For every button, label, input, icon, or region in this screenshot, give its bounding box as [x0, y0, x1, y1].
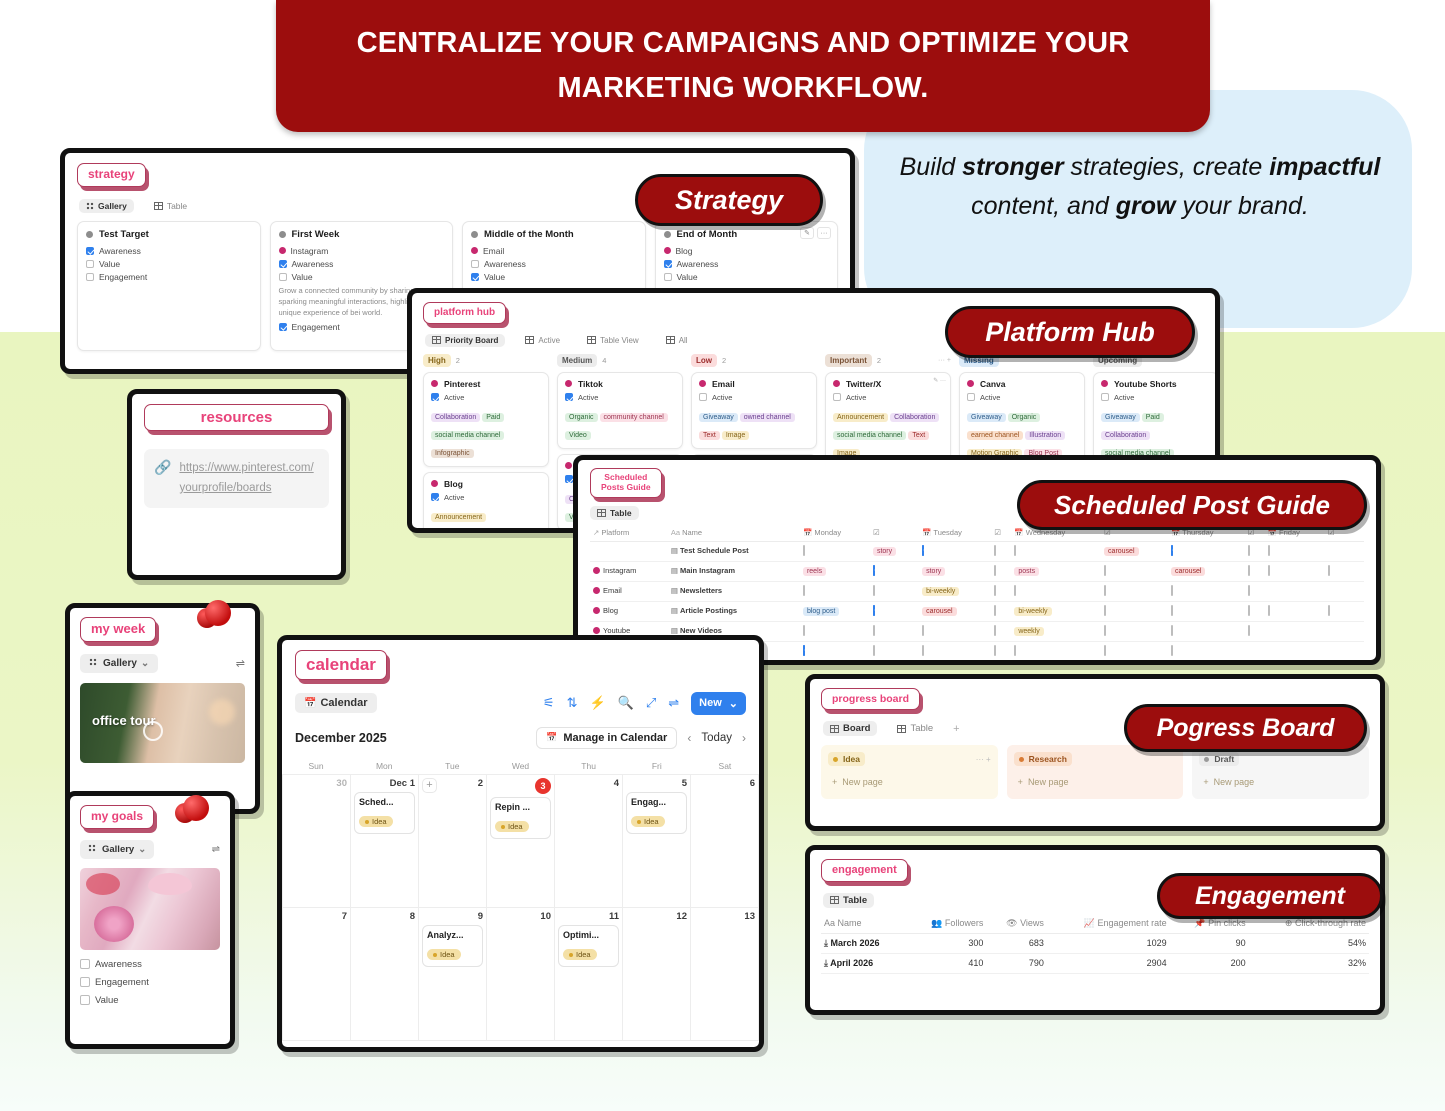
checkbox-icon[interactable]	[80, 995, 90, 1005]
my-week-view-gallery[interactable]: Gallery⌄	[80, 654, 158, 673]
cell-empty[interactable]	[1325, 581, 1345, 601]
platform-card[interactable]: TiktokActiveOrganiccommunity channelVide…	[557, 372, 683, 449]
cell-check[interactable]	[1011, 641, 1101, 665]
table-row[interactable]: Email▤ Newslettersbi-weekly	[590, 581, 1364, 601]
card-tag: community channel	[600, 413, 668, 422]
calendar-day-cell[interactable]: 30	[283, 775, 351, 908]
cell-empty[interactable]	[1245, 641, 1265, 665]
checkbox-row[interactable]: Awareness	[80, 959, 220, 970]
checkbox-icon[interactable]	[699, 393, 707, 401]
checkbox-icon[interactable]	[1171, 625, 1173, 636]
calendar-icon: 📅	[546, 732, 557, 743]
platform-dot-icon	[967, 380, 974, 387]
cell-tag[interactable]: blog post	[800, 601, 870, 621]
new-page-button[interactable]: + New page	[1014, 772, 1177, 792]
cell-empty[interactable]	[1265, 621, 1325, 641]
column-more-icon[interactable]: ··· +	[938, 357, 951, 364]
cell-check[interactable]	[1011, 581, 1101, 601]
checkbox-icon[interactable]	[1104, 625, 1106, 636]
cell-check[interactable]	[919, 621, 991, 641]
checkbox-icon[interactable]	[1268, 545, 1270, 556]
checkbox-icon[interactable]	[1248, 585, 1250, 596]
checkbox-icon[interactable]	[1014, 585, 1016, 596]
calendar-weekday: Sun	[282, 758, 350, 774]
checkbox-icon[interactable]	[873, 605, 875, 616]
calendar-event[interactable]: Repin ...Idea	[490, 797, 551, 839]
checkbox-icon[interactable]	[431, 493, 439, 501]
cell-check[interactable]	[1265, 601, 1325, 621]
checkbox-icon[interactable]	[803, 585, 805, 596]
progress-view-table-label: Table	[910, 723, 933, 734]
my-week-view-label: Gallery	[103, 658, 137, 669]
checkbox-icon[interactable]	[994, 645, 996, 656]
card-tags: Giveawayowned channelTextImage	[699, 406, 809, 442]
calendar-day-number: 13	[694, 911, 755, 922]
cell-pin-clicks: 200	[1170, 953, 1249, 973]
my-goals-photo[interactable]	[80, 868, 220, 950]
checkbox-icon[interactable]	[873, 645, 875, 656]
card-tag: Paid	[482, 413, 504, 422]
checkbox-icon[interactable]	[1248, 565, 1250, 576]
cell-check[interactable]	[870, 601, 919, 621]
add-view-icon[interactable]: +	[953, 723, 959, 735]
cell-check[interactable]	[1245, 561, 1265, 581]
tagline-p4: your brand.	[1175, 192, 1308, 220]
cell-check[interactable]	[870, 581, 919, 601]
checkbox-icon[interactable]	[279, 273, 287, 281]
platform-view-table-view[interactable]: Table View	[580, 334, 646, 347]
banner-title: CENTRALIZE YOUR CAMPAIGNS AND OPTIMIZE Y…	[276, 21, 1210, 111]
checkbox-label: Engagement	[99, 272, 147, 282]
checkbox-icon[interactable]	[80, 977, 90, 987]
cell-check[interactable]	[991, 621, 1011, 641]
sort-icon[interactable]: ⇅	[567, 695, 578, 711]
new-page-button[interactable]: + New page	[828, 772, 991, 792]
cell-check[interactable]	[1245, 541, 1265, 561]
platform-view-active[interactable]: Active	[518, 334, 567, 347]
card-tag: Giveaway	[1101, 413, 1140, 422]
cell-check[interactable]	[870, 561, 919, 581]
cell-check[interactable]	[1101, 621, 1168, 641]
col-header[interactable]: 📅 Tuesday	[919, 524, 991, 542]
new-button-label: New	[699, 697, 722, 709]
checkbox-label: Active	[578, 393, 598, 402]
light-bokeh-icon	[209, 699, 235, 725]
column-more-icon[interactable]: ··· +	[976, 755, 991, 764]
cell-check[interactable]	[991, 581, 1011, 601]
today-button[interactable]: Today	[701, 732, 732, 744]
table-icon	[897, 725, 906, 733]
progress-view-board-label: Board	[843, 723, 870, 734]
cell-tag[interactable]: bi-weekly	[919, 581, 991, 601]
checkbox-icon[interactable]	[1248, 625, 1250, 636]
checkbox-icon[interactable]	[471, 273, 479, 281]
cell-check[interactable]	[800, 641, 870, 665]
card-tags: AnnouncementCollaborationsocial media ch…	[833, 406, 943, 460]
card-tag: Announcement	[431, 513, 486, 522]
checkbox-icon[interactable]	[803, 645, 805, 656]
checkbox-icon[interactable]	[994, 585, 996, 596]
progress-board-panel: progress board Board Table + Idea··· ++ …	[805, 674, 1385, 831]
strategy-view-table[interactable]: Table	[147, 199, 194, 213]
col-header[interactable]: ↗ Platform	[590, 524, 668, 542]
checkbox-icon[interactable]	[803, 625, 805, 636]
checkbox-label: Awareness	[484, 259, 526, 269]
table-row[interactable]: Blog▤ Article Postingsblog postcarouselb…	[590, 601, 1364, 621]
strategy-view-table-label: Table	[167, 201, 187, 211]
card-tag: social media channel	[833, 431, 906, 440]
cell-tag[interactable]: story	[870, 541, 919, 561]
cell-tag[interactable]: carousel	[1101, 541, 1168, 561]
checkbox-icon[interactable]	[994, 605, 996, 616]
checkbox-icon[interactable]	[833, 393, 841, 401]
strategy-card[interactable]: Test Target Awareness Value Engagement	[77, 221, 261, 351]
more-icon[interactable]: ···	[817, 227, 831, 239]
checkbox-icon[interactable]	[1248, 605, 1250, 616]
card-tag: Collaboration	[890, 413, 939, 422]
cell-empty[interactable]	[1354, 621, 1364, 641]
cell-check[interactable]	[870, 641, 919, 665]
checkbox-row[interactable]: Active	[833, 393, 943, 402]
cell-check[interactable]	[1325, 601, 1345, 621]
next-arrow-icon[interactable]: ›	[742, 731, 746, 745]
cell-empty[interactable]	[1354, 581, 1364, 601]
cell-empty[interactable]	[1265, 641, 1325, 665]
checkbox-icon[interactable]	[994, 565, 996, 576]
checkbox-icon[interactable]	[86, 247, 94, 255]
cell-tag[interactable]: weekly	[1011, 621, 1101, 641]
cell-empty[interactable]	[1265, 581, 1325, 601]
checkbox-icon[interactable]	[994, 625, 996, 636]
cell-check[interactable]	[991, 541, 1011, 561]
calendar-event-title: Analyz...	[427, 930, 478, 940]
filter-icon[interactable]: ⚟	[543, 695, 555, 711]
cell-check[interactable]	[1168, 621, 1245, 641]
cell-check[interactable]	[1245, 621, 1265, 641]
cell-empty[interactable]	[1325, 641, 1345, 665]
cell-check[interactable]	[919, 641, 991, 665]
board-icon	[830, 725, 839, 733]
checkbox-row[interactable]: Value	[664, 272, 830, 282]
checkbox-row[interactable]: Active	[431, 393, 541, 402]
checkbox-icon[interactable]	[922, 625, 924, 636]
cell-check[interactable]	[991, 561, 1011, 581]
card-tag: Giveaway	[967, 413, 1006, 422]
cell-check[interactable]	[1011, 541, 1101, 561]
checkbox-icon[interactable]	[1268, 565, 1270, 576]
cell-check[interactable]	[1101, 601, 1168, 621]
checkbox-row[interactable]: Active	[967, 393, 1077, 402]
cell-tag[interactable]: reels	[800, 561, 870, 581]
platform-dot-icon	[1101, 380, 1108, 387]
checkbox-icon[interactable]	[1104, 645, 1106, 656]
calendar-day-number: 9	[422, 911, 483, 922]
calendar-event-title: Repin ...	[495, 802, 546, 812]
checkbox-label: Engagement	[292, 322, 340, 332]
cell-platform: Email	[590, 581, 668, 601]
cell-check[interactable]	[800, 621, 870, 641]
progress-view-board[interactable]: Board	[823, 721, 877, 736]
calendar-view-label: Calendar	[320, 697, 367, 709]
card-title-text: Youtube Shorts	[1114, 379, 1177, 389]
checkbox-row[interactable]: Awareness	[471, 259, 637, 269]
checkbox-icon[interactable]	[565, 475, 573, 483]
progress-view-table[interactable]: Table	[890, 721, 940, 736]
col-header-check[interactable]: ☑	[991, 524, 1011, 542]
cell-followers: 410	[906, 953, 986, 973]
col-header[interactable]: 📈 Engagement rate	[1047, 914, 1170, 934]
cell-tag[interactable]: story	[919, 561, 991, 581]
checkbox-icon[interactable]	[1268, 605, 1270, 616]
checkbox-icon[interactable]	[279, 323, 287, 331]
checkbox-icon[interactable]	[873, 565, 875, 576]
cell-empty[interactable]	[1354, 561, 1364, 581]
checkbox-row[interactable]: Value	[471, 272, 637, 282]
cell-empty[interactable]	[1345, 541, 1354, 561]
add-event-icon[interactable]: +	[422, 778, 437, 793]
cell-check[interactable]	[1168, 581, 1245, 601]
checkbox-icon[interactable]	[1104, 565, 1106, 576]
checkbox-icon[interactable]	[1104, 605, 1106, 616]
checkbox-icon[interactable]	[1104, 585, 1106, 596]
cell-check[interactable]	[1168, 641, 1245, 665]
cell-tag-chip: blog post	[803, 607, 839, 616]
search-icon[interactable]: 🔍	[618, 695, 634, 711]
settings-sliders-icon[interactable]: ⇌	[668, 695, 679, 711]
cell-check[interactable]	[1245, 581, 1265, 601]
cell-check[interactable]	[1168, 541, 1245, 561]
cell-empty[interactable]	[1354, 541, 1364, 561]
calendar-day-cell[interactable]: 3Repin ...Idea	[487, 775, 555, 908]
cell-empty[interactable]	[1345, 641, 1354, 665]
table-row[interactable]: ⤓ March 202630068310299054%	[821, 933, 1369, 953]
cell-tag[interactable]: carousel	[1168, 561, 1245, 581]
checkbox-row[interactable]: Active	[1101, 393, 1211, 402]
cell-empty[interactable]	[1325, 541, 1345, 561]
checkbox-icon[interactable]	[86, 273, 94, 281]
cell-empty[interactable]	[1354, 601, 1364, 621]
calendar-weekday: Mon	[350, 758, 418, 774]
calendar-day-cell[interactable]: 6	[691, 775, 759, 908]
platform-card[interactable]: ✎ ···Twitter/XActiveAnnouncementCollabor…	[825, 372, 951, 467]
cell-check[interactable]	[800, 541, 870, 561]
cell-check[interactable]	[1101, 641, 1168, 665]
platform-card[interactable]: CanvaActiveGiveawayOrganicearned channel…	[959, 372, 1085, 467]
calendar-event[interactable]: Engag...Idea	[626, 792, 687, 834]
settings-sliders-icon[interactable]: ⇌	[212, 844, 220, 855]
checkbox-icon[interactable]	[922, 645, 924, 656]
cell-platform	[590, 541, 668, 561]
calendar-day-number-today: 3	[535, 778, 551, 794]
calendar-event[interactable]: Optimi...Idea	[558, 925, 619, 967]
checkbox-icon[interactable]	[1171, 585, 1173, 596]
checkbox-icon[interactable]	[1328, 605, 1330, 616]
col-header[interactable]: 👁 Views	[986, 914, 1047, 934]
checkbox-icon[interactable]	[922, 545, 924, 556]
calendar-weekday: Sat	[691, 758, 759, 774]
cell-check[interactable]	[991, 641, 1011, 665]
table-row[interactable]: ▤ Test Schedule Poststorycarousel	[590, 541, 1364, 561]
resource-link-text[interactable]: https://www.pinterest.com/yourprofile/bo…	[179, 459, 319, 498]
cell-check[interactable]	[1265, 541, 1325, 561]
checkbox-icon[interactable]	[873, 625, 875, 636]
checkbox-icon[interactable]	[1328, 565, 1330, 576]
card-title-text: Test Target	[99, 229, 149, 240]
automation-bolt-icon[interactable]: ⚡	[589, 695, 605, 711]
cell-check[interactable]	[919, 541, 991, 561]
col-header[interactable]: 📅 Monday	[800, 524, 870, 542]
checkbox-icon[interactable]	[1014, 645, 1016, 656]
checkbox-icon[interactable]	[873, 585, 875, 596]
tagline-b1: stronger	[962, 153, 1063, 181]
checkbox-icon[interactable]	[1101, 393, 1109, 401]
cell-check[interactable]	[800, 581, 870, 601]
resource-link-box[interactable]: 🔗 https://www.pinterest.com/yourprofile/…	[144, 449, 329, 508]
settings-sliders-icon[interactable]: ⇌	[236, 657, 245, 670]
calendar-day-cell[interactable]: 13	[691, 908, 759, 1041]
col-header[interactable]: Aa Name	[821, 914, 906, 934]
cell-empty[interactable]	[1354, 641, 1364, 665]
expand-icon[interactable]: ⤢	[646, 695, 656, 711]
chevron-down-icon: ⌄	[141, 658, 149, 669]
engagement-view-table[interactable]: Table	[823, 893, 874, 908]
calendar-day-cell[interactable]: 9Analyz...Idea	[419, 908, 487, 1041]
header-banner: CENTRALIZE YOUR CAMPAIGNS AND OPTIMIZE Y…	[276, 0, 1210, 132]
col-header-check[interactable]: ☑	[870, 524, 919, 542]
cell-check[interactable]	[1168, 601, 1245, 621]
scheduled-view-table[interactable]: Table	[590, 506, 639, 520]
platform-view-all[interactable]: All	[659, 334, 695, 347]
checkbox-icon[interactable]	[664, 260, 672, 268]
cell-check[interactable]	[1101, 561, 1168, 581]
cell-check[interactable]	[991, 601, 1011, 621]
calendar-day-cell[interactable]: 10	[487, 908, 555, 1041]
calendar-event[interactable]: Sched...Idea	[354, 792, 415, 834]
platform-card[interactable]: EmailActiveGiveawayowned channelTextImag…	[691, 372, 817, 449]
date-icon: 📅	[1014, 528, 1023, 537]
pill-strategy: Strategy	[635, 174, 823, 226]
checkbox-icon[interactable]	[1171, 545, 1173, 556]
cell-check[interactable]	[1101, 581, 1168, 601]
calendar-day-cell[interactable]: +2	[419, 775, 487, 908]
table-row[interactable]: ⤓ April 2026410790290420032%	[821, 953, 1369, 973]
checkbox-icon[interactable]	[1248, 545, 1250, 556]
platform-dot-icon	[565, 462, 572, 469]
strategy-view-gallery[interactable]: Gallery	[79, 199, 134, 213]
manage-in-calendar-button[interactable]: 📅Manage in Calendar	[536, 727, 677, 749]
cell-check[interactable]	[1245, 601, 1265, 621]
platform-view-priority-board[interactable]: Priority Board	[425, 334, 505, 347]
checkbox-icon[interactable]	[279, 260, 287, 268]
checkbox-row[interactable]: Active	[699, 393, 809, 402]
checkbox-icon[interactable]	[1171, 645, 1173, 656]
new-page-label: New page	[1214, 777, 1255, 787]
checkbox-row[interactable]: Engagement	[80, 977, 220, 988]
cell-check[interactable]	[870, 621, 919, 641]
card-title: Blog	[431, 479, 541, 489]
column-count: 2	[456, 356, 460, 365]
my-week-panel: my week Gallery⌄ ⇌ office tour	[65, 603, 260, 814]
prev-arrow-icon[interactable]: ‹	[687, 731, 691, 745]
cell-tag[interactable]: posts	[1011, 561, 1101, 581]
cell-tag-chip: posts	[1014, 567, 1039, 576]
gallery-icon	[89, 658, 99, 668]
calendar-day-cell[interactable]: 12	[623, 908, 691, 1041]
checkbox-row[interactable]: Value	[80, 995, 220, 1006]
checkbox-row[interactable]: Awareness	[86, 246, 252, 256]
calendar-day-cell[interactable]: 5Engag...Idea	[623, 775, 691, 908]
checkbox-row[interactable]: Engagement	[86, 272, 252, 282]
col-header-extra2[interactable]	[1354, 524, 1364, 542]
platform-card[interactable]: BlogActiveAnnouncementowned channelText	[423, 472, 549, 534]
new-page-label: New page	[1028, 777, 1069, 787]
card-title: Twitter/X	[833, 379, 943, 389]
checkbox-icon[interactable]	[471, 260, 479, 268]
new-page-button[interactable]: + New page	[1199, 772, 1362, 792]
checkbox-icon[interactable]	[1171, 605, 1173, 616]
engagement-panel: engagement Table Aa Name👥 Followers👁 Vie…	[805, 845, 1385, 1015]
edit-icon[interactable]: ✎	[800, 227, 814, 239]
calendar-view-chip[interactable]: 📅Calendar	[295, 693, 377, 713]
cell-empty[interactable]	[1345, 581, 1354, 601]
cell-tag[interactable]: carousel	[919, 601, 991, 621]
platform-card[interactable]: PinterestActiveCollaborationPaidsocial m…	[423, 372, 549, 467]
new-button[interactable]: New⌄	[691, 692, 746, 715]
checkbox-icon[interactable]	[967, 393, 975, 401]
checkbox-col-icon: ☑	[994, 528, 1001, 537]
checkbox-icon[interactable]	[431, 393, 439, 401]
checkbox-row[interactable]: Value	[279, 272, 445, 282]
checkbox-icon[interactable]	[1014, 545, 1016, 556]
checkbox-icon[interactable]	[803, 545, 805, 556]
checkbox-icon[interactable]	[86, 260, 94, 268]
view-label: Priority Board	[445, 336, 498, 345]
cell-empty[interactable]	[1345, 601, 1354, 621]
cell-check[interactable]	[1325, 561, 1345, 581]
calendar-day-cell[interactable]: Dec 1Sched...Idea	[351, 775, 419, 908]
my-week-photo[interactable]: office tour	[80, 683, 245, 763]
table-row[interactable]: Instagram▤ Main Instagramreelsstoryposts…	[590, 561, 1364, 581]
calendar-day-cell[interactable]: 7	[283, 908, 351, 1041]
cell-tag-chip: carousel	[1104, 547, 1138, 556]
col-header[interactable]: Aa Name	[668, 524, 800, 542]
calendar-day-cell[interactable]: 4	[555, 775, 623, 908]
checkbox-row[interactable]: Awareness	[664, 259, 830, 269]
checkbox-icon[interactable]	[565, 393, 573, 401]
cell-empty[interactable]	[1345, 621, 1354, 641]
calendar-event[interactable]: Analyz...Idea	[422, 925, 483, 967]
checkbox-row[interactable]: Value	[86, 259, 252, 269]
card-actions-icon[interactable]: ✎ ···	[933, 377, 946, 384]
checkbox-icon[interactable]	[80, 959, 90, 969]
cell-empty[interactable]	[1345, 561, 1354, 581]
cell-tag[interactable]: bi-weekly	[1011, 601, 1101, 621]
calendar-day-cell[interactable]: 8	[351, 908, 419, 1041]
cell-check[interactable]	[1265, 561, 1325, 581]
checkbox-label: Value	[95, 995, 119, 1006]
pill-progress-board: Pogress Board	[1124, 704, 1367, 752]
platform-dot-icon	[565, 380, 572, 387]
checkbox-row[interactable]: Active	[431, 493, 541, 502]
col-header[interactable]: 👥 Followers	[906, 914, 986, 934]
checkbox-icon[interactable]	[664, 273, 672, 281]
checkbox-icon[interactable]	[994, 545, 996, 556]
cell-empty[interactable]	[1325, 621, 1345, 641]
my-goals-view-gallery[interactable]: Gallery⌄	[80, 840, 154, 859]
checkbox-row[interactable]: Awareness	[279, 259, 445, 269]
calendar-day-cell[interactable]: 11Optimi...Idea	[555, 908, 623, 1041]
checkbox-row[interactable]: Active	[565, 393, 675, 402]
